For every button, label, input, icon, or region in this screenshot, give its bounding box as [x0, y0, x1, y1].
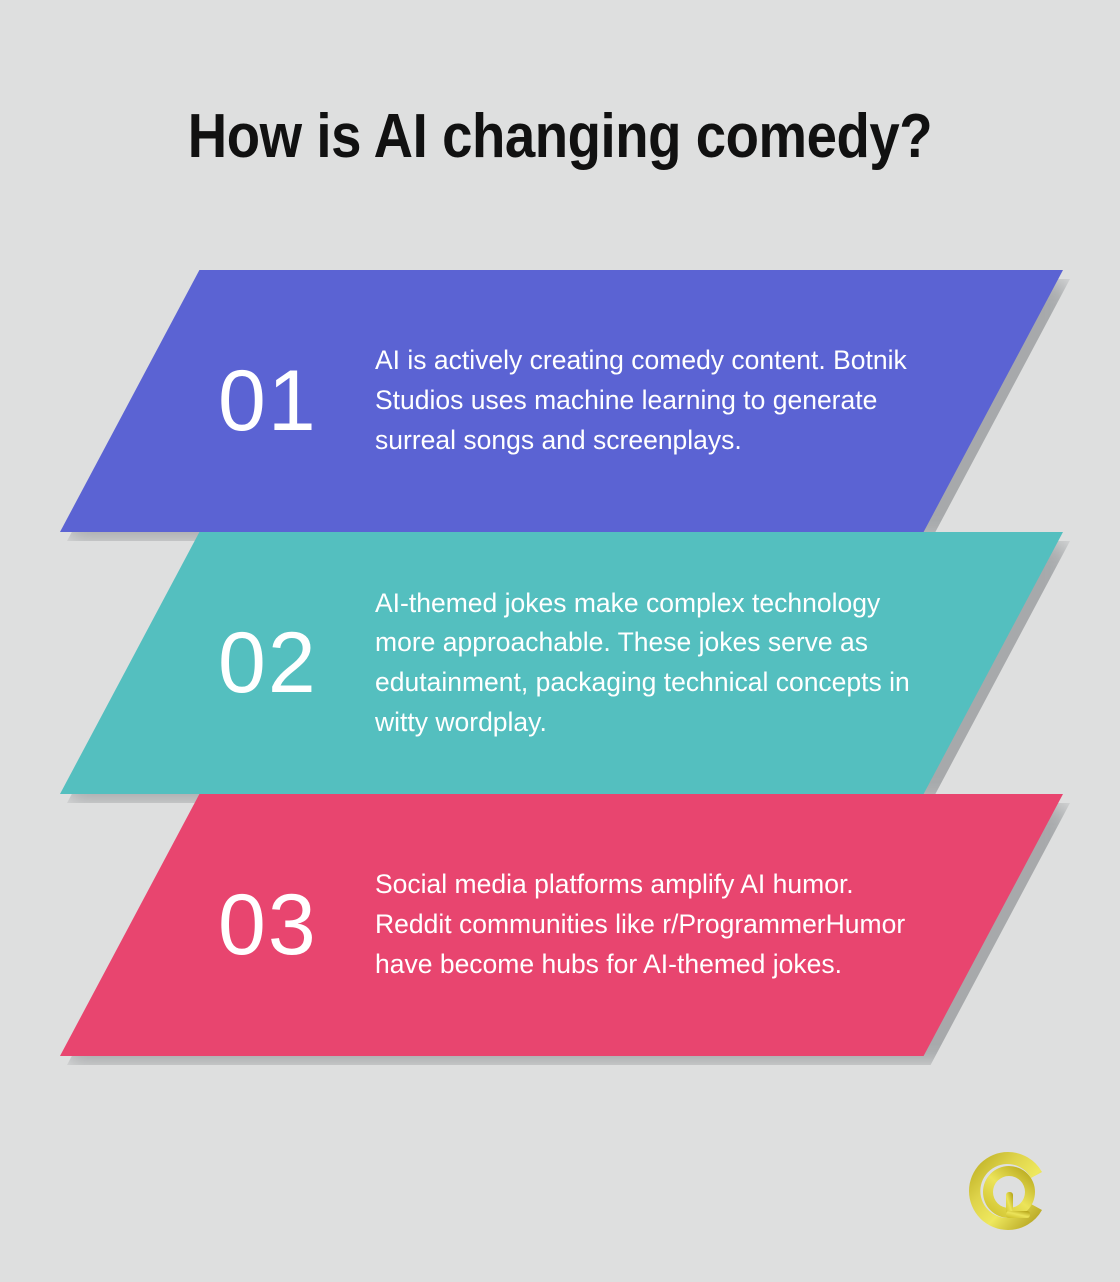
step-2-text-span: AI-themed jokes make complex technology …: [375, 584, 935, 743]
brand-logo-icon: [965, 1148, 1051, 1234]
step-item-1: 01 AI is actively creating comedy conten…: [60, 270, 1063, 532]
step-3-text: Social media platforms amplify AI humor.…: [375, 794, 935, 1056]
step-1-number: 01: [218, 270, 388, 532]
step-2-text: AI-themed jokes make complex technology …: [375, 532, 935, 794]
step-item-3: 03 Social media platforms amplify AI hum…: [60, 794, 1063, 1056]
step-3-number: 03: [218, 794, 388, 1056]
steps-list: 01 AI is actively creating comedy conten…: [0, 0, 1120, 1282]
infographic-canvas: How is AI changing comedy? 01 AI is acti…: [0, 0, 1120, 1282]
step-2-number: 02: [218, 532, 388, 794]
step-2-content: 02 AI-themed jokes make complex technolo…: [60, 532, 1063, 794]
step-1-text-span: AI is actively creating comedy content. …: [375, 341, 935, 460]
step-3-text-span: Social media platforms amplify AI humor.…: [375, 865, 935, 984]
brand-logo: [965, 1148, 1051, 1234]
step-item-2: 02 AI-themed jokes make complex technolo…: [60, 532, 1063, 794]
step-1-text: AI is actively creating comedy content. …: [375, 270, 935, 532]
step-1-content: 01 AI is actively creating comedy conten…: [60, 270, 1063, 532]
step-3-content: 03 Social media platforms amplify AI hum…: [60, 794, 1063, 1056]
